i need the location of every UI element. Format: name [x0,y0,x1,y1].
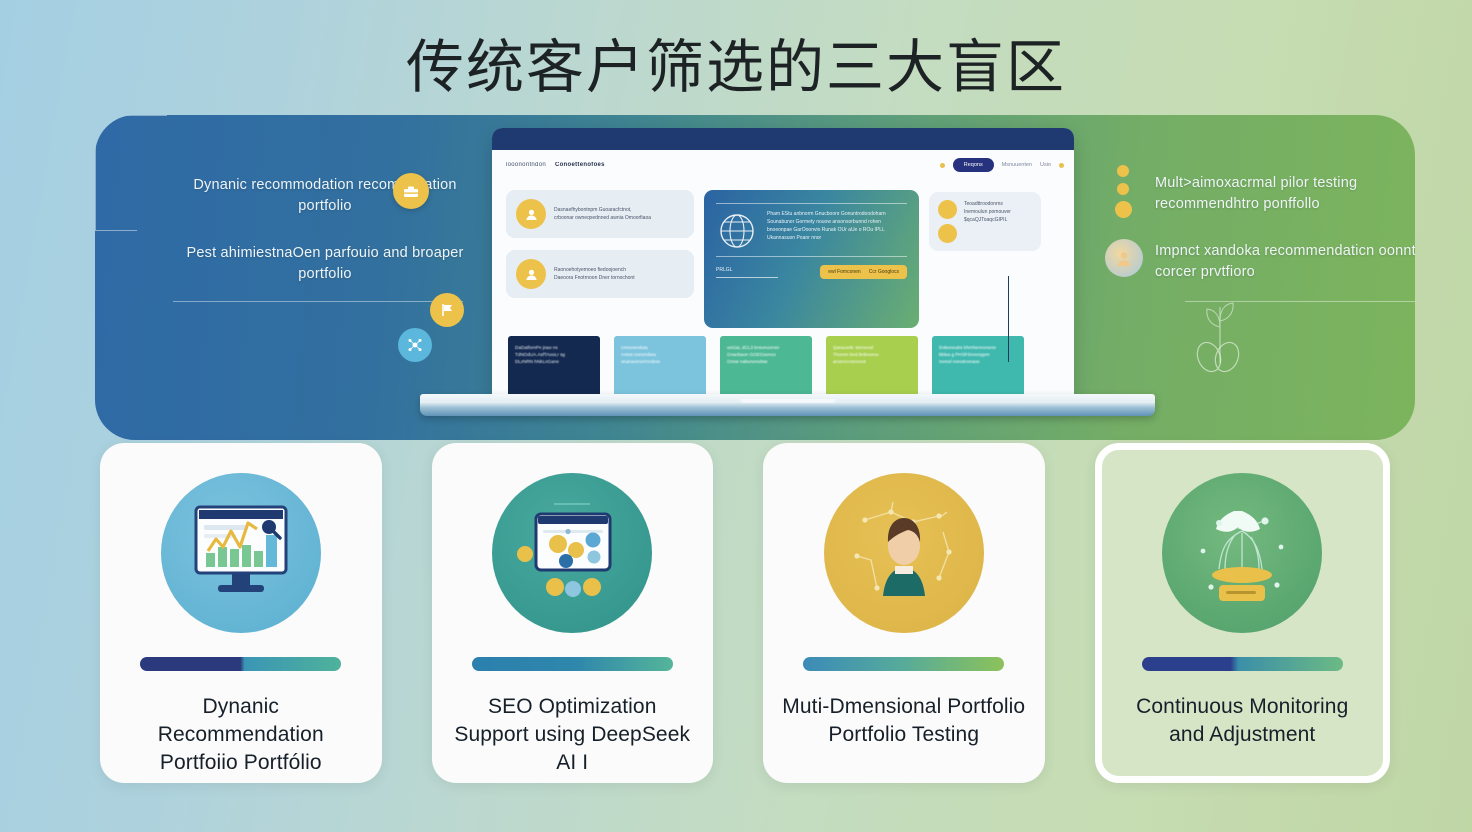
feature-line-1: Pham EStu anbnorm Gnucboonr Gonuntrodood… [767,210,886,218]
feature-line-4: Ukannasuon Poanr nnor [767,234,886,242]
tile-5-line-2: bblea g PrrSfrSnnooyprn [939,351,1017,358]
tile-4-line-1: Qanauetlc storunod [833,344,911,351]
dashboard-feature-card[interactable]: Pham EStu anbnorm Gnucboonr Gonuntrodood… [704,190,919,328]
feature-card-3[interactable]: Muti-Dmensional Portfolio Portfolio Test… [763,443,1045,783]
nav-link-1[interactable]: Msnuuenten [1002,162,1032,168]
coin-avatar-icon-2 [938,224,957,243]
dashboard-brand-text: looonontndon [506,162,546,168]
feature-card-2[interactable]: SEO Optimization Support using DeepSeek … [432,443,714,783]
growth-plant-icon [1162,473,1322,633]
tile-1-line-1: DaDatfornPn jnao ns [515,344,593,351]
nav-dot-icon-left [940,163,945,168]
dashboard-navbar: looonontndon Conoettenofoes Reqons Msnuu… [492,150,1074,180]
tile-4-line-3: aroenccnsnunot [833,358,911,365]
person-network-icon [824,473,984,633]
dashboard-tile-strip: DaDatfornPn jnao ns TdNOdUA.AsfTAooLr sg… [492,328,1074,398]
page-title: 传统客户筛选的三大盲区 [0,32,1472,104]
user-avatar-icon [516,259,546,289]
tile-2-line-3: onanaomorrnroboe [621,358,699,365]
hero-connector-horizontal-1 [95,115,167,116]
progress-bar-4 [1142,657,1343,671]
feature-card-bottom-rule [716,256,907,257]
feature-card-row: Pham EStu anbnorm Gnucboonr Gonuntrodood… [716,210,907,252]
monitor-chart-icon [161,473,321,633]
right-card-line-1: Teoadttroodonrns [964,200,1011,208]
list-item-line-1: Raonoehotyemoeo fiedoojoench [554,266,684,274]
coin-avatar-icon-1 [938,200,957,219]
tile-4[interactable]: Qanauetlc storunod Thonnn bnd Bnbnoruo a… [826,336,918,398]
tile-3-line-3: Onrat nabunonebse [727,358,805,365]
dashboard-right-card[interactable]: Teoadttroodonrns Inemoulun pomouver $qca… [929,192,1041,251]
feature-action-label-2: Ccr Googlocs [869,269,899,275]
dashboard-left-column: Dasnaefhybontnpm Guoaracfctnot, crboonar… [506,184,694,328]
dashboard-brand: looonontndon Conoettenofoes [506,162,605,168]
feature-card-2-label: SEO Optimization Support using DeepSeek … [450,693,696,777]
right-card-avatars [938,200,957,243]
tile-3[interactable]: uoGaL dCL3 bnsonunnsn Gnacbaon GOEGsonoo… [720,336,812,398]
dashboard-right-column: Teoadttroodonrns Inemoulun pomouver $qca… [929,192,1041,328]
list-item-line-2: crboonar owneqxednned awnia Omoorfiaoa [554,214,684,222]
dashboard-screen: looonontndon Conoettenofoes Reqons Msnuu… [492,128,1074,400]
tile-4-line-2: Thonnn bnd Bnbnoruo [833,351,911,358]
right-card-text: Teoadttroodonrns Inemoulun pomouver $qca… [964,200,1011,243]
dashboard-connector-line [1008,276,1009,362]
feature-footer-label: PRLGL [716,267,778,273]
list-item-text: Dasnaefhybontnpm Guoaracfctnot, crboonar… [554,206,684,222]
browser-bubbles-icon [492,473,652,633]
laptop-base [420,394,1155,416]
tile-2-line-2: Antos nonorobea [621,351,699,358]
laptop-notch [740,399,836,403]
dashboard-section-text: Conoettenofoes [555,162,605,168]
list-item-text: Raonoehotyemoeo fiedoojoench Daeoora Fno… [554,266,684,282]
tile-1-line-2: TdNOdUA.AsfTAooLr sg [515,351,593,358]
globe-icon [716,210,758,252]
right-card-line-2: Inemoulun pomouver [964,208,1011,216]
nav-active-pill[interactable]: Reqons [953,158,994,172]
screen-titlebar [492,128,1074,150]
feature-card-4-label: Continuous Monitoring and Adjustment [1120,693,1366,749]
progress-bar-3 [803,657,1004,671]
tile-5-line-1: Dobonoubs bhrnhennonenn [939,344,1017,351]
list-item[interactable]: Dasnaefhybontnpm Guoaracfctnot, crboonar… [506,190,694,238]
tile-2-line-1: Unnoranduta [621,344,699,351]
feature-line-2: Sounabunor Gormety nouow ansonsorbunnd r… [767,218,886,226]
feature-card-1[interactable]: Dynanic Recommendation Portfoiio Portfól… [100,443,382,783]
hero-right-text-1: Mult>aimoxacrmal pilor testing recommend… [1155,173,1415,215]
list-item-line-1: Dasnaefhybontnpm Guoaracfctnot, [554,206,684,214]
tile-2[interactable]: Unnoranduta Antos nonorobea onanaomorrnr… [614,336,706,398]
hero-connector-horizontal-2 [95,230,137,231]
feature-card-footer: PRLGL ewl Fomconen Ccr Googlocs [716,265,907,279]
nav-dot-icon-right [1059,163,1064,168]
feature-line-3: bnoeonpae GarOoonvio Runak OUr aUe o ROu… [767,226,886,234]
feature-card-text: Pham EStu anbnorm Gnucboonr Gonuntrodood… [767,210,886,242]
list-item-line-2: Daeoora Fnotrnoon Dner tornochont [554,274,684,282]
right-card-line-3: $qcaQJToaqcGIPIL [964,216,1011,224]
feature-card-1-label: Dynanic Recommendation Portfoiio Portfól… [118,693,364,777]
feature-action-label-1: ewl Fomconen [828,269,861,275]
nav-link-2[interactable]: Usio [1040,162,1051,168]
feature-card-top-rule [716,203,907,204]
hero-right-text-2: Impnct xandoka recommendaticn oonnties c… [1155,241,1415,283]
dashboard-nav-right: Reqons Msnuuenten Usio [940,158,1064,172]
feature-card-4[interactable]: Continuous Monitoring and Adjustment [1095,443,1391,783]
list-item[interactable]: Raonoehotyemoeo fiedoojoench Daeoora Fno… [506,250,694,298]
hero-connector-vertical [95,116,96,230]
tile-5[interactable]: Dobonoubs bhrnhennonenn bblea g PrrSfrSn… [932,336,1024,398]
feature-action-button[interactable]: ewl Fomconen Ccr Googlocs [820,265,907,279]
progress-bar-1 [140,657,341,671]
laptop-mockup: looonontndon Conoettenofoes Reqons Msnuu… [420,128,1155,416]
tile-1[interactable]: DaDatfornPn jnao ns TdNOdUA.AsfTAooLr sg… [508,336,600,398]
leaf-decoration-icon [1193,337,1247,377]
feature-footer-underline [716,277,778,278]
dashboard-body: Dasnaefhybontnpm Guoaracfctnot, crboonar… [492,180,1074,328]
user-avatar-icon [516,199,546,229]
feature-card-3-label: Muti-Dmensional Portfolio Portfolio Test… [781,693,1027,749]
tile-1-line-3: DLzNRN hNkLnGane [515,358,593,365]
tile-3-line-2: Gnacbaon GOEGsonoo [727,351,805,358]
tile-5-line-3: nomol nonotnonaoo [939,358,1017,365]
progress-bar-2 [472,657,673,671]
tile-3-line-1: uoGaL dCL3 bnsonunnsn [727,344,805,351]
feature-card-row: Dynanic Recommendation Portfoiio Portfól… [100,443,1390,783]
